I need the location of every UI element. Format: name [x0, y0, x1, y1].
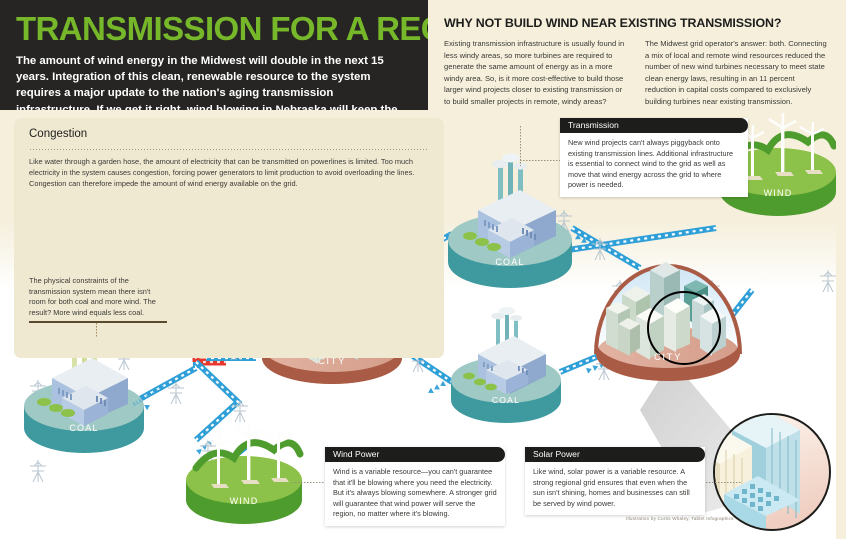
callout-wind-power-title: Wind Power: [325, 447, 505, 462]
header-right-panel: WHY NOT BUILD WIND NEAR EXISTING TRANSMI…: [428, 0, 846, 110]
congestion-title: Congestion: [29, 128, 87, 140]
leader-wind-power: [292, 482, 324, 483]
wind-turbines-bottom: [206, 421, 290, 488]
congestion-divider: [29, 149, 429, 150]
island-label-coal-mid: COAL: [492, 395, 520, 405]
island-label-wind-top: WIND: [764, 188, 793, 198]
city-buildings-right: [606, 262, 726, 360]
island-coal-mid: COAL: [451, 307, 561, 423]
island-coal-top: COAL: [448, 154, 572, 289]
header-column-2: The Midwest grid operator's answer: both…: [645, 38, 828, 108]
hose-annotation: The physical constraints of the transmis…: [29, 276, 169, 318]
wind-turbines-top: [740, 113, 824, 180]
island-city-right: CITY: [596, 262, 740, 381]
leader-transmission-v: [520, 126, 521, 166]
header-question: WHY NOT BUILD WIND NEAR EXISTING TRANSMI…: [444, 16, 828, 30]
header-columns: Existing transmission infrastructure is …: [444, 38, 828, 108]
leader-solar-power: [706, 482, 742, 483]
callout-transmission: Transmission New wind projects can't alw…: [560, 118, 748, 197]
header-column-1: Existing transmission infrastructure is …: [444, 38, 627, 108]
callout-wind-power: Wind Power Wind is a variable resource—y…: [325, 447, 505, 526]
page-title: TRANSMISSION FOR A REGION: [16, 12, 412, 46]
callout-solar-power-title: Solar Power: [525, 447, 705, 462]
callout-transmission-body: New wind projects can't always piggyback…: [560, 133, 748, 197]
hose-leader-line: [96, 323, 97, 337]
island-label-city-right: CITY: [654, 352, 682, 363]
congestion-body: Like water through a garden hose, the am…: [29, 156, 425, 189]
island-label-coal-left: COAL: [69, 423, 98, 433]
callout-solar-power-body: Like wind, solar power is a variable res…: [525, 462, 705, 515]
header-left-panel: TRANSMISSION FOR A REGION The amount of …: [0, 0, 428, 110]
callout-wind-power-body: Wind is a variable resource—you can't gu…: [325, 462, 505, 526]
infographic-root: TRANSMISSION FOR A REGION The amount of …: [0, 0, 846, 539]
illustration-credit: Illustration by Curtis Whaley, Tablet In…: [626, 516, 734, 521]
hose-annotation-rule: [29, 321, 167, 323]
callout-solar-power: Solar Power Like wind, solar power is a …: [525, 447, 705, 515]
callout-transmission-title: Transmission: [560, 118, 748, 133]
island-label-wind-bottom: WIND: [230, 496, 259, 506]
page-right-margin: [836, 0, 846, 539]
leader-transmission: [520, 160, 560, 161]
illustration-stage: COAL: [0, 110, 846, 539]
island-label-coal-top: COAL: [495, 257, 524, 267]
